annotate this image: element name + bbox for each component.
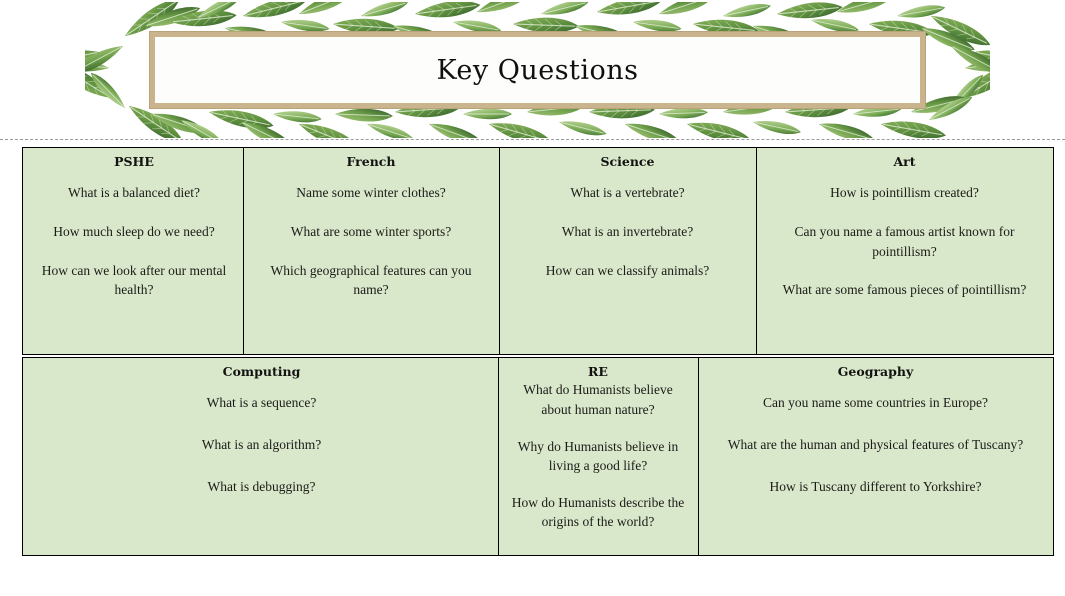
- question-item: What is a sequence?: [32, 393, 491, 413]
- section-divider-rule: [0, 139, 1065, 140]
- question-item: How can we classify animals?: [509, 261, 747, 281]
- question-item: Can you name some countries in Europe?: [708, 393, 1044, 413]
- question-item: What is debugging?: [32, 477, 491, 497]
- question-item: Why do Humanists believe in living a goo…: [508, 437, 689, 476]
- question-item: How do Humanists describe the origins of…: [508, 493, 689, 532]
- question-item: Which geographical features can you name…: [253, 261, 490, 300]
- question-item: What is a balanced diet?: [32, 183, 236, 203]
- question-list: What is a balanced diet? How much sleep …: [32, 183, 236, 299]
- subject-title: Computing: [32, 365, 491, 379]
- subject-cell-re[interactable]: RE What do Humanists believe about human…: [498, 357, 699, 556]
- question-list: How is pointillism created? Can you name…: [766, 183, 1044, 299]
- subject-title: Art: [766, 155, 1044, 169]
- question-item: What is a vertebrate?: [509, 183, 747, 203]
- question-list: What do Humanists believe about human na…: [508, 380, 689, 531]
- question-item: How is pointillism created?: [766, 183, 1044, 203]
- question-item: Can you name a famous artist known for p…: [766, 222, 1044, 261]
- table-row: PSHE What is a balanced diet? How much s…: [22, 147, 1055, 355]
- question-item: What are some famous pieces of pointilli…: [766, 280, 1044, 300]
- question-item: How is Tuscany different to Yorkshire?: [708, 477, 1044, 497]
- subject-title: PSHE: [32, 155, 236, 169]
- key-questions-table: PSHE What is a balanced diet? How much s…: [22, 147, 1055, 556]
- page-title: Key Questions: [150, 32, 925, 108]
- subject-title: Geography: [708, 365, 1044, 379]
- question-list: Can you name some countries in Europe? W…: [708, 393, 1044, 496]
- page-header-banner: Key Questions: [0, 0, 1065, 140]
- question-item: What are some winter sports?: [253, 222, 490, 242]
- question-list: What is a sequence? What is an algorithm…: [32, 393, 491, 496]
- question-item: What are the human and physical features…: [708, 435, 1044, 455]
- subject-cell-pshe[interactable]: PSHE What is a balanced diet? How much s…: [22, 147, 246, 355]
- subject-cell-french[interactable]: French Name some winter clothes? What ar…: [243, 147, 500, 355]
- subject-cell-art[interactable]: Art How is pointillism created? Can you …: [756, 147, 1054, 355]
- question-item: Name some winter clothes?: [253, 183, 490, 203]
- subject-cell-geography[interactable]: Geography Can you name some countries in…: [698, 357, 1054, 556]
- question-list: What is a vertebrate? What is an inverte…: [509, 183, 747, 280]
- question-item: What is an algorithm?: [32, 435, 491, 455]
- subject-title: RE: [508, 365, 689, 379]
- table-row: Computing What is a sequence? What is an…: [22, 357, 1055, 556]
- subject-cell-science[interactable]: Science What is a vertebrate? What is an…: [499, 147, 757, 355]
- question-item: What is an invertebrate?: [509, 222, 747, 242]
- subject-title: French: [253, 155, 490, 169]
- question-list: Name some winter clothes? What are some …: [253, 183, 490, 299]
- subject-cell-computing[interactable]: Computing What is a sequence? What is an…: [22, 357, 501, 556]
- question-item: How much sleep do we need?: [32, 222, 236, 242]
- subject-title: Science: [509, 155, 747, 169]
- question-item: How can we look after our mental health?: [32, 261, 236, 300]
- question-item: What do Humanists believe about human na…: [508, 380, 689, 419]
